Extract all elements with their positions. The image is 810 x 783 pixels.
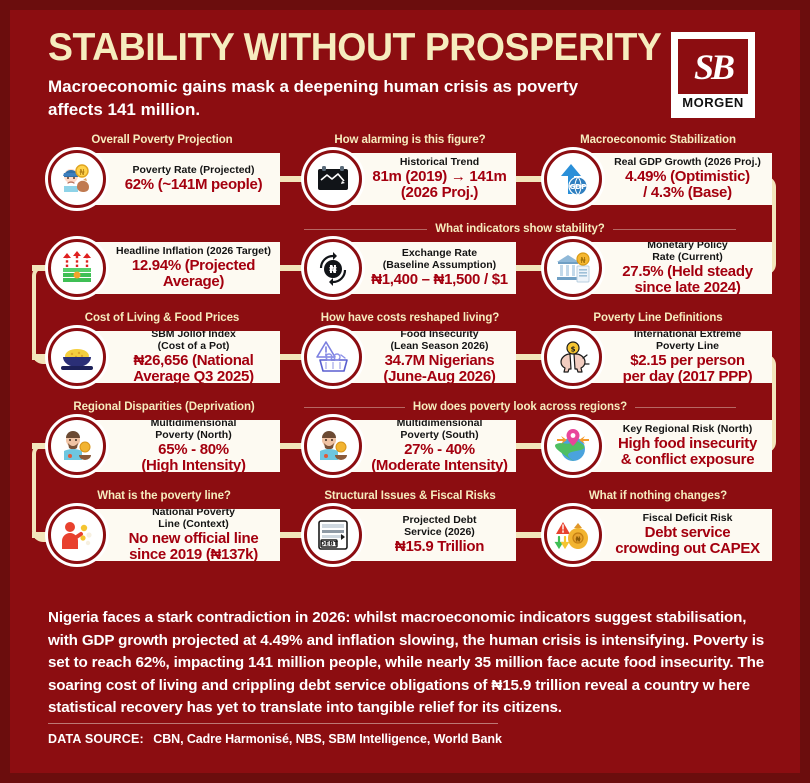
section-label: How have costs reshaped living? <box>304 310 516 326</box>
card-value: 27% - 40% (Moderate Intensity) <box>371 442 508 472</box>
card-body: Multidimensional Poverty (North) 65% - 8… <box>94 420 280 472</box>
card-body: Exchange Rate (Baseline Assumption) ₦1,4… <box>350 242 516 294</box>
svg-text:₦: ₦ <box>329 263 337 276</box>
card-body: Headline Inflation (2026 Target) 12.94% … <box>94 242 280 294</box>
card-value: No new official line since 2019 (₦137k) <box>129 531 259 561</box>
section-label-text: Structural Issues & Fiscal Risks <box>324 490 495 502</box>
card-jollof-index[interactable]: SBM Jollof Index (Cost of a Pot) ₦26,656… <box>48 328 280 386</box>
card-national-poverty-line[interactable]: National Poverty Line (Context) No new o… <box>48 506 280 564</box>
section-label-text: What indicators show stability? <box>435 223 604 235</box>
card-body: Fiscal Deficit Risk Debt service crowdin… <box>590 509 772 561</box>
card-value: 12.94% (Projected Average) <box>132 258 255 290</box>
svg-text:₦: ₦ <box>576 536 581 544</box>
card-body: SBM Jollof Index (Cost of a Pot) ₦26,656… <box>94 331 280 383</box>
row-stability-indicators: What indicators show stability? <box>10 221 800 310</box>
card-body: Monetary Policy Rate (Current) 27.5% (He… <box>590 242 772 294</box>
card-body: Projected Debt Service (2026) ₦15.9 Tril… <box>350 509 516 561</box>
card-value: ₦26,656 (National Average Q3 2025) <box>133 353 254 383</box>
card-label: Headline Inflation (2026 Target) <box>116 246 271 258</box>
food-alert-basket-icon <box>304 328 362 386</box>
fiscal-risk-warning-icon: ₦ <box>544 506 602 564</box>
rule-right <box>635 407 736 408</box>
card-monetary-policy-rate[interactable]: ₦ Monetary Policy Rate (Current) 27.5% (… <box>544 239 772 297</box>
row-structural-risks: What is the poverty line? Structural Iss… <box>10 488 800 577</box>
card-label: Projected Debt Service (2026) <box>402 515 476 538</box>
data-source-value: CBN, Cadre Harmonisé, NBS, SBM Intellige… <box>153 732 502 746</box>
summary-paragraph: Nigeria faces a stark contradiction in 2… <box>48 607 766 720</box>
card-value: 62% (~141M people) <box>125 177 263 193</box>
poverty-person-money-icon: ₦ <box>48 150 106 208</box>
declining-chart-icon <box>304 150 362 208</box>
footer-divider <box>48 723 498 724</box>
naira-exchange-icon: ₦ <box>304 239 362 297</box>
row-regional-disparities: Regional Disparities (Deprivation) How d… <box>10 399 800 488</box>
section-label-text: Regional Disparities (Deprivation) <box>73 401 254 413</box>
card-value: ₦1,400 – ₦1,500 / $1 <box>371 272 508 288</box>
central-bank-icon: ₦ <box>544 239 602 297</box>
card-body: Key Regional Risk (North) High food inse… <box>590 420 772 472</box>
card-gdp-growth[interactable]: GDP Real GDP Growth (2026 Proj.) 4.49% (… <box>544 150 772 208</box>
card-body: Multidimensional Poverty (South) 27% - 4… <box>350 420 516 472</box>
section-label: Regional Disparities (Deprivation) <box>48 399 280 415</box>
card-label: Food Insecurity (Lean Season 2026) <box>390 331 488 352</box>
section-label-text: Macroeconomic Stabilization <box>580 134 736 146</box>
card-label: Fiscal Deficit Risk <box>643 513 733 525</box>
card-label: Historical Trend <box>400 157 479 169</box>
card-food-insecurity[interactable]: Food Insecurity (Lean Season 2026) 34.7M… <box>304 328 516 386</box>
infographic-frame: STABILITY WITHOUT PROSPERITY Macroeconom… <box>10 10 800 773</box>
card-poverty-rate[interactable]: ₦ Poverty Rate (Projected) 62% (~141M pe… <box>48 150 280 208</box>
row-cost-of-living: Cost of Living & Food Prices How have co… <box>10 310 800 399</box>
card-value: $2.15 per person per day (2017 PPP) <box>623 353 753 383</box>
card-label: Monetary Policy Rate (Current) <box>647 242 728 263</box>
section-label: How alarming is this figure? <box>304 132 516 148</box>
card-label: Poverty Rate (Projected) <box>133 165 255 177</box>
card-label: SBM Jollof Index (Cost of a Pot) <box>151 331 236 352</box>
section-label: Cost of Living & Food Prices <box>48 310 276 326</box>
section-label-text: Poverty Line Definitions <box>593 312 722 324</box>
card-body: Food Insecurity (Lean Season 2026) 34.7M… <box>350 331 516 383</box>
card-label: National Poverty Line (Context) <box>152 509 235 530</box>
data-source: DATA SOURCE: CBN, Cadre Harmonisé, NBS, … <box>48 732 502 746</box>
section-label-text: Cost of Living & Food Prices <box>85 312 239 324</box>
section-label: What indicators show stability? <box>304 221 736 237</box>
broken-piggy-bank-icon: $ <box>544 328 602 386</box>
svg-text:$: $ <box>571 346 576 354</box>
south-farmer-icon <box>304 417 362 475</box>
section-label-text: How does poverty look across regions? <box>413 401 627 413</box>
svg-text:₦: ₦ <box>79 168 84 177</box>
card-label: Multidimensional Poverty (South) <box>397 420 483 441</box>
card-label: Key Regional Risk (North) <box>623 424 753 436</box>
card-body: International Extreme Poverty Line $2.15… <box>590 331 772 383</box>
card-body: Historical Trend 81m (2019) → 141m (2026… <box>350 153 516 205</box>
card-exchange-rate[interactable]: ₦ Exchange Rate (Baseline Assumption) ₦1… <box>304 239 516 297</box>
debt-document-icon: DEBT <box>304 506 362 564</box>
svg-text:₦: ₦ <box>580 256 585 265</box>
card-body: Poverty Rate (Projected) 62% (~141M peop… <box>94 153 280 205</box>
section-label-text: What is the poverty line? <box>97 490 231 502</box>
jollof-bowl-icon <box>48 328 106 386</box>
sb-morgen-logo: SB MORGEN <box>671 32 755 118</box>
row-overall-poverty: Overall Poverty Projection How alarming … <box>10 132 800 221</box>
card-headline-inflation[interactable]: Headline Inflation (2026 Target) 12.94% … <box>48 239 280 297</box>
section-label-text: How alarming is this figure? <box>334 134 485 146</box>
card-value: 65% - 80% (High Intensity) <box>141 442 245 472</box>
rule-left <box>304 229 427 230</box>
logo-wordmark: MORGEN <box>671 95 755 110</box>
header: STABILITY WITHOUT PROSPERITY Macroeconom… <box>48 26 768 131</box>
section-label: Macroeconomic Stabilization <box>544 132 772 148</box>
card-label: Real GDP Growth (2026 Proj.) <box>614 157 761 169</box>
card-mpi-north[interactable]: Multidimensional Poverty (North) 65% - 8… <box>48 417 280 475</box>
card-historical-trend[interactable]: Historical Trend 81m (2019) → 141m (2026… <box>304 150 516 208</box>
logo-mark-box: SB <box>678 39 748 94</box>
page-title: STABILITY WITHOUT PROSPERITY <box>48 26 739 69</box>
north-farmer-icon <box>48 417 106 475</box>
person-coins-icon <box>48 506 106 564</box>
card-value: 81m (2019) → 141m (2026 Proj.) <box>372 169 506 201</box>
card-projected-debt-service[interactable]: DEBT Projected Debt Service (2026) ₦15.9… <box>304 506 516 564</box>
rule-right <box>613 229 736 230</box>
section-label-text: Overall Poverty Projection <box>91 134 232 146</box>
card-grid: Overall Poverty Projection How alarming … <box>10 132 800 577</box>
card-value: Debt service crowding out CAPEX <box>615 525 760 557</box>
inflation-rising-money-icon <box>48 239 106 297</box>
card-label: Exchange Rate (Baseline Assumption) <box>383 248 496 271</box>
section-label: What if nothing changes? <box>544 488 772 504</box>
card-value: 27.5% (Held steady since late 2024) <box>622 264 753 294</box>
section-label-text: What if nothing changes? <box>589 490 727 502</box>
card-label: International Extreme Poverty Line <box>634 331 741 352</box>
svg-text:DEBT: DEBT <box>320 541 339 548</box>
card-extreme-poverty-line[interactable]: $ International Extreme Poverty Line $2.… <box>544 328 772 386</box>
section-label: Overall Poverty Projection <box>48 132 276 148</box>
section-label: Poverty Line Definitions <box>544 310 772 326</box>
card-value: 34.7M Nigerians (June-Aug 2026) <box>383 353 495 383</box>
logo-monogram: SB <box>694 49 732 85</box>
card-body: Real GDP Growth (2026 Proj.) 4.49% (Opti… <box>590 153 772 205</box>
page-subtitle: Macroeconomic gains mask a deepening hum… <box>48 75 608 121</box>
gdp-up-arrow-icon: GDP <box>544 150 602 208</box>
rule-left <box>304 407 405 408</box>
section-label: Structural Issues & Fiscal Risks <box>304 488 516 504</box>
globe-location-pin-icon <box>544 417 602 475</box>
section-label: How does poverty look across regions? <box>304 399 736 415</box>
card-label: Multidimensional Poverty (North) <box>151 420 237 441</box>
card-value: High food insecurity & conflict exposure <box>618 436 757 468</box>
section-label: What is the poverty line? <box>48 488 280 504</box>
section-label-text: How have costs reshaped living? <box>321 312 499 324</box>
card-mpi-south[interactable]: Multidimensional Poverty (South) 27% - 4… <box>304 417 516 475</box>
data-source-label: DATA SOURCE: <box>48 732 144 746</box>
card-value: ₦15.9 Trillion <box>395 539 484 555</box>
svg-text:GDP: GDP <box>570 183 587 191</box>
card-value: 4.49% (Optimistic) / 4.3% (Base) <box>625 169 750 201</box>
card-body: National Poverty Line (Context) No new o… <box>94 509 280 561</box>
card-fiscal-deficit-risk[interactable]: ₦ Fiscal Deficit Risk Debt service crowd… <box>544 506 772 564</box>
card-key-regional-risk[interactable]: Key Regional Risk (North) High food inse… <box>544 417 772 475</box>
